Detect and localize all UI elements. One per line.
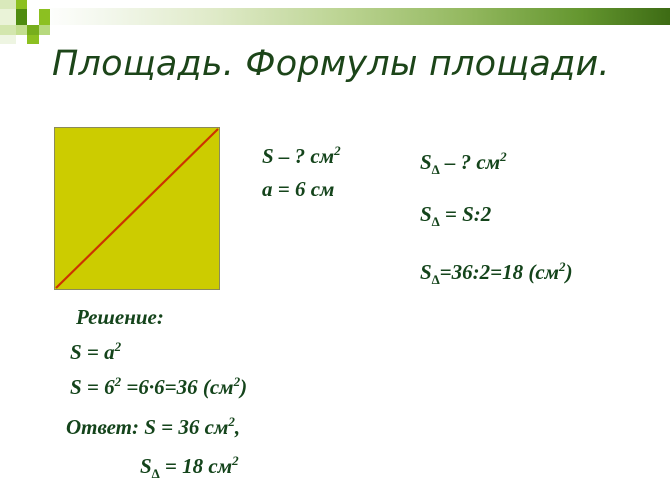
solution-line-2: S = 62 =6·6=36 (см2): [70, 367, 247, 402]
triangle-block: S∆ – ? см2 S∆ = S:2 S∆=36:2=18 (см2): [420, 134, 573, 303]
triangle-symbol: S: [420, 150, 432, 174]
decoration-squares: [0, 0, 50, 44]
header-gradient-bar: [38, 8, 670, 25]
answer-line-2-exponent: 2: [232, 453, 239, 468]
answer-block: Ответ: S = 36 см2, S∆ = 18 см2: [66, 405, 240, 490]
answer-line-1: Ответ: S = 36 см2,: [66, 405, 240, 444]
deco-square: [39, 25, 50, 35]
deco-square: [0, 35, 16, 44]
triangle-symbol: S: [140, 454, 152, 478]
solution-line-1: S = a2: [70, 332, 247, 367]
triangle-symbol: S: [420, 202, 432, 226]
solution-heading: Решение:: [70, 303, 247, 332]
diagonal-line-icon: [55, 128, 219, 289]
deco-square: [39, 9, 50, 25]
solution-line-1-exponent: 2: [115, 339, 122, 354]
given-values-block: S – ? см2 a = 6 см: [262, 134, 341, 206]
deco-square: [16, 0, 27, 9]
deco-square: [27, 35, 39, 44]
solution-line-2-text: S = 6: [70, 375, 115, 399]
deco-square: [0, 25, 16, 35]
answer-comma: ,: [235, 415, 240, 439]
triangle-line-3: S∆=36:2=18 (см2): [420, 244, 573, 302]
triangle-line-3-tail: ): [566, 260, 573, 284]
answer-line-2: S∆ = 18 см2: [66, 444, 240, 490]
triangle-line-1: S∆ – ? см2: [420, 134, 573, 192]
deco-square: [16, 9, 27, 25]
solution-block: Решение: S = a2 S = 62 =6·6=36 (см2): [70, 303, 247, 402]
deco-square: [16, 25, 27, 35]
solution-line-1-text: S = a: [70, 340, 115, 364]
page-title: Площадь. Формулы площади.: [52, 42, 652, 86]
triangle-subscript: ∆: [152, 466, 160, 481]
given-line-area: S – ? см2: [262, 134, 341, 173]
given-area-text: S – ? см: [262, 144, 334, 168]
answer-label: Ответ: S = 36 см: [66, 415, 228, 439]
deco-square: [27, 25, 39, 35]
triangle-symbol: S: [420, 260, 432, 284]
triangle-line-2-rest: = S:2: [440, 202, 492, 226]
deco-square: [27, 9, 39, 25]
triangle-line-1-rest: – ? см: [440, 150, 500, 174]
deco-square: [0, 9, 16, 25]
triangle-subscript: ∆: [432, 214, 440, 229]
triangle-subscript: ∆: [432, 273, 440, 288]
given-line-side: a = 6 см: [262, 173, 341, 206]
triangle-subscript: ∆: [432, 162, 440, 177]
given-area-exponent: 2: [334, 143, 341, 158]
solution-line-2-tail: ): [240, 375, 247, 399]
answer-line-2-rest: = 18 см: [160, 454, 232, 478]
triangle-line-3-rest: =36:2=18 (см: [440, 260, 559, 284]
triangle-line-2: S∆ = S:2: [420, 192, 573, 244]
solution-line-2-rest: =6·6=36 (см: [121, 375, 233, 399]
deco-square: [0, 0, 16, 9]
triangle-line-1-exponent: 2: [500, 149, 507, 164]
square-figure: [54, 127, 220, 290]
